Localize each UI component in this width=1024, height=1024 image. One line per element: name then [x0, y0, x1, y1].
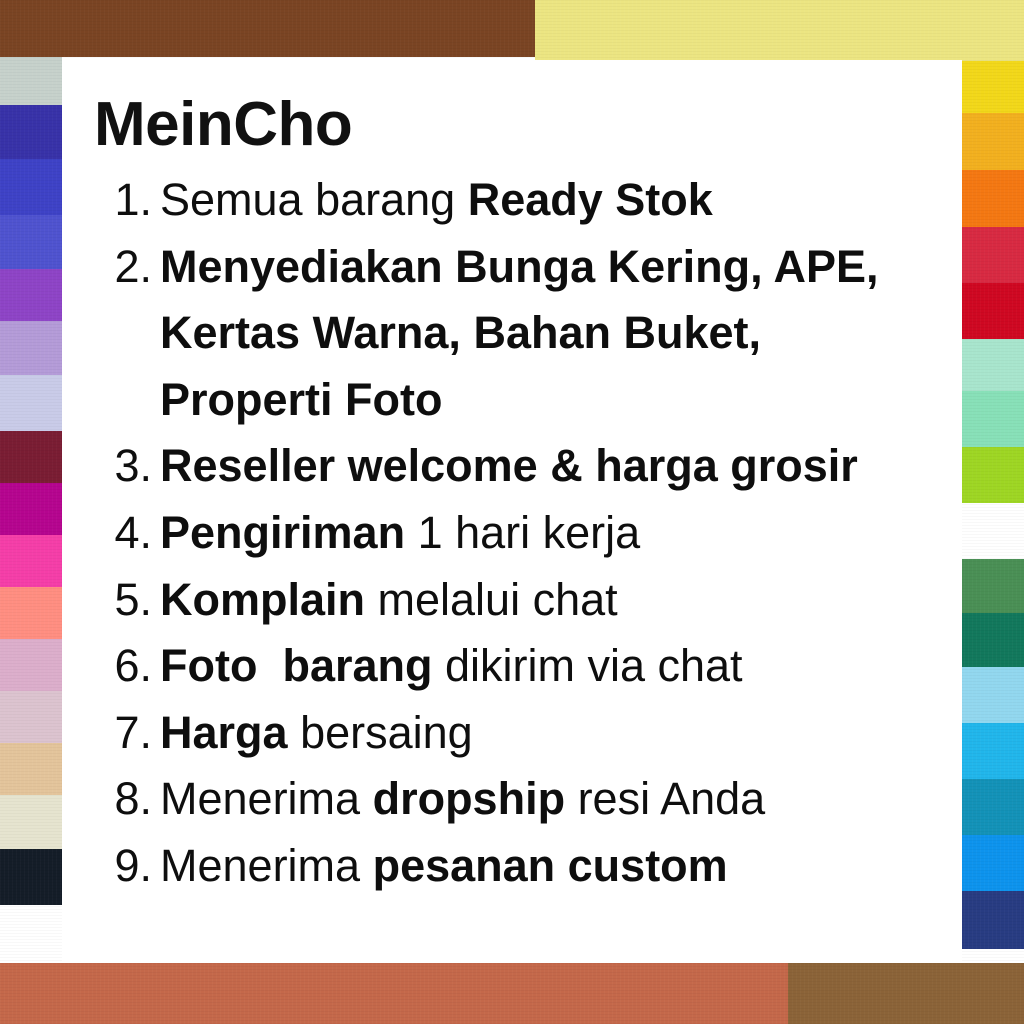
right-swatch-band [962, 723, 1024, 779]
background-top-left-block [0, 0, 535, 57]
list-item-text-normal: 1 hari kerja [405, 507, 640, 558]
info-card: MeinCho 1.Semua barang Ready Stok2.Menye… [62, 60, 962, 963]
list-item-text-bold: Ready Stok [468, 174, 713, 225]
list-item: 8.Menerima dropship resi Anda [92, 766, 928, 833]
right-color-swatch-strip [962, 61, 1024, 949]
list-item: 6.Foto barang dikirim via chat [92, 633, 928, 700]
right-swatch-band [962, 283, 1024, 339]
left-swatch-band [0, 321, 62, 375]
right-swatch-band [962, 559, 1024, 613]
right-swatch-band [962, 503, 1024, 559]
right-swatch-band [962, 891, 1024, 949]
list-item: 1.Semua barang Ready Stok [92, 167, 928, 234]
list-item-text-bold: Pengiriman [160, 507, 405, 558]
list-item-text: Reseller welcome & harga grosir [160, 433, 928, 500]
list-item: 5.Komplain melalui chat [92, 567, 928, 634]
right-swatch-band [962, 667, 1024, 723]
left-swatch-band [0, 215, 62, 269]
list-item-text-bold: Foto barang [160, 640, 432, 691]
list-item-text: Foto barang dikirim via chat [160, 633, 928, 700]
list-item-number: 8. [92, 766, 160, 833]
list-item: 4.Pengiriman 1 hari kerja [92, 500, 928, 567]
right-swatch-band [962, 339, 1024, 391]
background-bottom-right-block [788, 963, 1024, 1024]
list-item-text-normal: melalui chat [365, 574, 618, 625]
list-item: 9.Menerima pesanan custom [92, 833, 928, 900]
list-item: 3.Reseller welcome & harga grosir [92, 433, 928, 500]
page-title: MeinCho [92, 92, 928, 157]
list-item-number: 2. [92, 234, 160, 301]
background-bottom-left-block [0, 963, 788, 1024]
list-item-number: 6. [92, 633, 160, 700]
list-item-text-normal: Semua barang [160, 174, 468, 225]
list-item-text-normal: resi Anda [565, 773, 765, 824]
list-item-text: Menerima dropship resi Anda [160, 766, 928, 833]
list-item-text-bold: dropship [373, 773, 565, 824]
left-swatch-band [0, 57, 62, 105]
list-item-text-bold: Reseller welcome & harga grosir [160, 440, 858, 491]
list-item-text-bold: Menyediakan Bunga Kering, APE, Kertas Wa… [160, 241, 891, 425]
list-item-text: Komplain melalui chat [160, 567, 928, 634]
list-item-number: 1. [92, 167, 160, 234]
right-swatch-band [962, 170, 1024, 227]
right-swatch-band [962, 61, 1024, 113]
right-swatch-band [962, 227, 1024, 283]
background-top-right-block [535, 0, 1024, 61]
left-swatch-band [0, 691, 62, 743]
left-swatch-band [0, 743, 62, 795]
list-item-number: 5. [92, 567, 160, 634]
left-swatch-band [0, 535, 62, 587]
left-swatch-band [0, 159, 62, 215]
list-item-text: Menerima pesanan custom [160, 833, 928, 900]
right-swatch-band [962, 391, 1024, 447]
list-item-number: 7. [92, 700, 160, 767]
right-swatch-band [962, 113, 1024, 170]
right-swatch-band [962, 779, 1024, 835]
feature-list: 1.Semua barang Ready Stok2.Menyediakan B… [92, 167, 928, 900]
left-swatch-band [0, 375, 62, 431]
left-swatch-band [0, 269, 62, 321]
list-item: 2.Menyediakan Bunga Kering, APE, Kertas … [92, 234, 928, 434]
list-item-text-normal: bersaing [288, 707, 473, 758]
left-swatch-band [0, 849, 62, 905]
list-item-number: 3. [92, 433, 160, 500]
right-swatch-band [962, 447, 1024, 503]
left-swatch-band [0, 431, 62, 483]
poster-canvas: MeinCho 1.Semua barang Ready Stok2.Menye… [0, 0, 1024, 1024]
left-swatch-band [0, 639, 62, 691]
left-swatch-band [0, 795, 62, 849]
list-item-text-bold: Harga [160, 707, 288, 758]
left-swatch-band [0, 483, 62, 535]
list-item-text-bold: pesanan custom [373, 840, 728, 891]
list-item-number: 9. [92, 833, 160, 900]
list-item-text-normal: dikirim via chat [432, 640, 742, 691]
right-swatch-band [962, 835, 1024, 891]
list-item: 7.Harga bersaing [92, 700, 928, 767]
left-swatch-band [0, 105, 62, 159]
left-swatch-band [0, 587, 62, 639]
list-item-text: Harga bersaing [160, 700, 928, 767]
left-color-swatch-strip [0, 57, 62, 905]
list-item-text-normal: Menerima [160, 773, 373, 824]
list-item-text: Semua barang Ready Stok [160, 167, 928, 234]
list-item-text-bold: Komplain [160, 574, 365, 625]
list-item-text: Pengiriman 1 hari kerja [160, 500, 928, 567]
list-item-text: Menyediakan Bunga Kering, APE, Kertas Wa… [160, 234, 928, 434]
list-item-text-normal: Menerima [160, 840, 373, 891]
list-item-number: 4. [92, 500, 160, 567]
right-swatch-band [962, 613, 1024, 667]
